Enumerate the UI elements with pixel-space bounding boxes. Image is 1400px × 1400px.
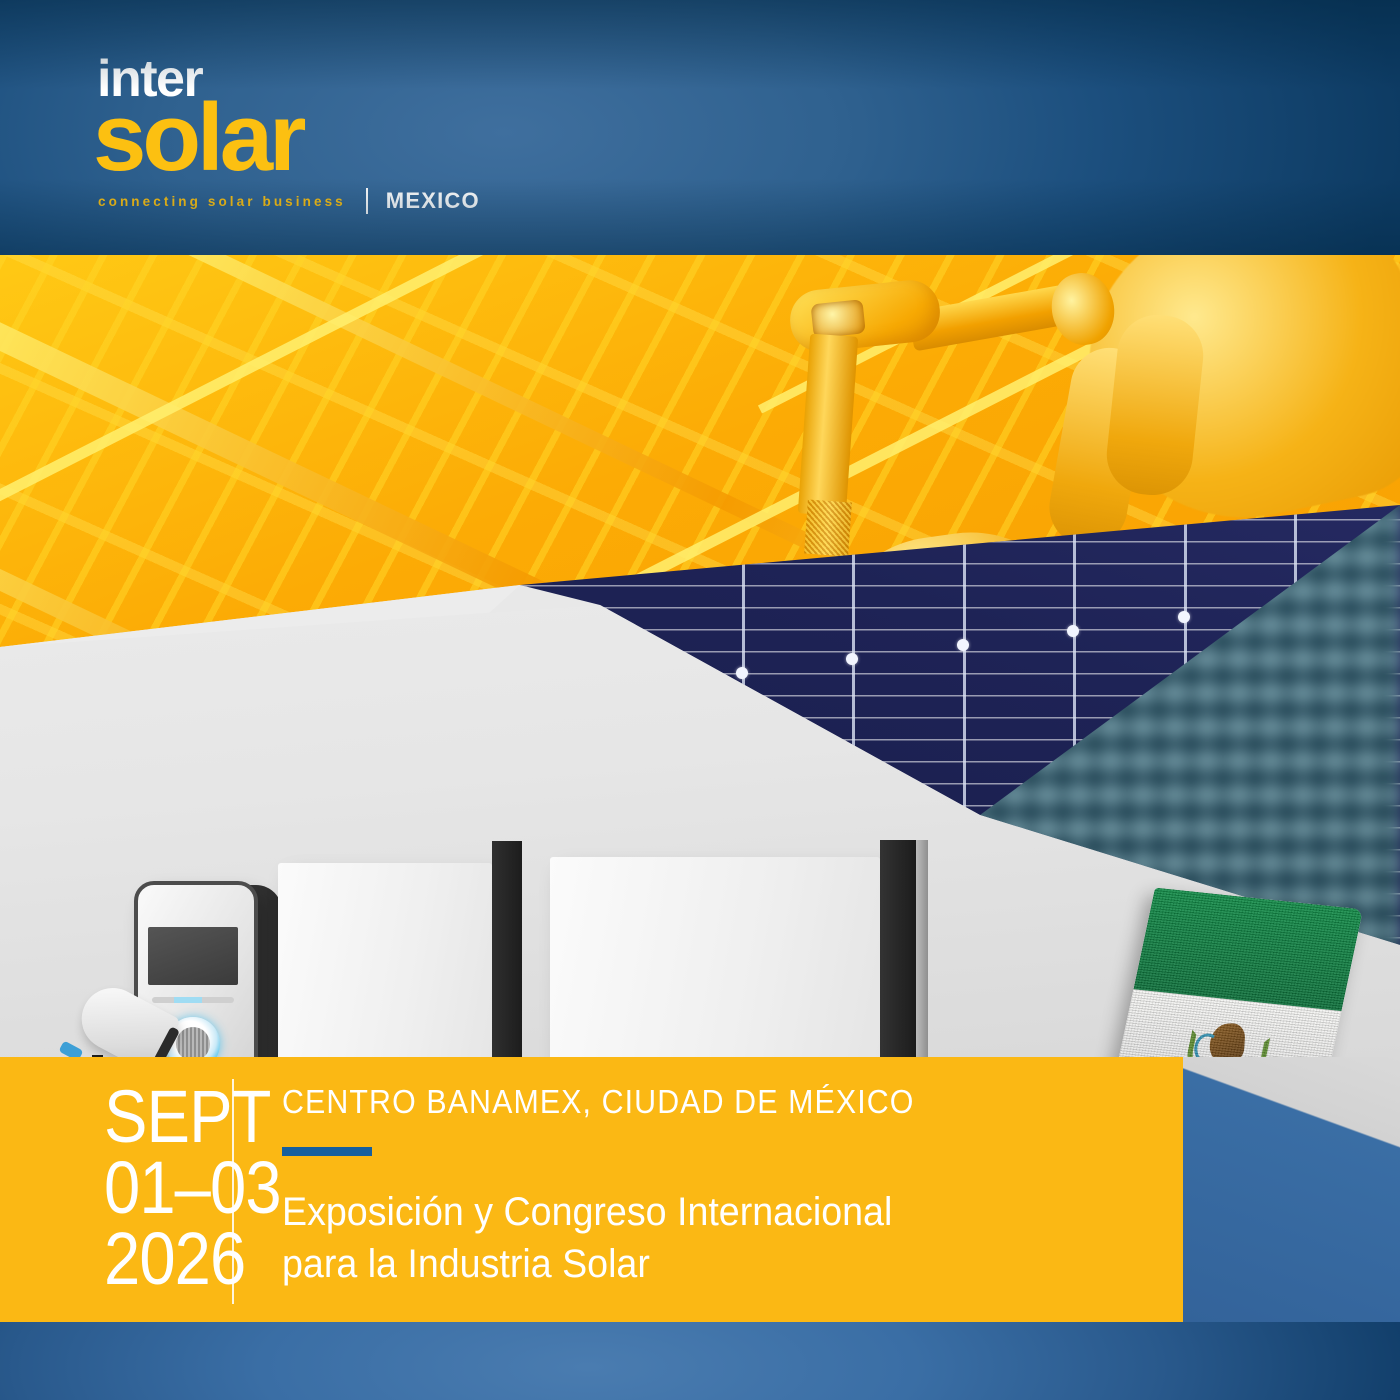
logo-solar-text: solar [93, 96, 513, 180]
poster-canvas: inter solar connecting solar business ME… [0, 0, 1400, 1400]
header-banner: inter solar connecting solar business ME… [0, 0, 1400, 255]
inverter-edge [916, 840, 928, 1058]
date-year: 2026 [104, 1223, 217, 1294]
footer-banner [0, 1322, 1400, 1400]
inverter-unit [278, 863, 492, 1058]
charger-screen [148, 927, 238, 985]
subtitle-line-2: para la Industria Solar [282, 1238, 928, 1290]
wrench-grip [804, 500, 852, 557]
event-dates: SEPT 01–03 2026 [0, 1057, 232, 1322]
date-days: 01–03 [104, 1152, 217, 1223]
inverter-side-panel [492, 841, 522, 1058]
solder-dot [846, 653, 858, 665]
logo-country-label: MEXICO [386, 188, 480, 214]
intersolar-logo[interactable]: inter solar connecting solar business ME… [93, 56, 513, 214]
logo-divider [366, 188, 368, 214]
accent-rule [282, 1147, 372, 1156]
event-details: CENTRO BANAMEX, CIUDAD DE MÉXICO Exposic… [234, 1057, 969, 1322]
venue-text: CENTRO BANAMEX, CIUDAD DE MÉXICO [282, 1083, 914, 1121]
wrench-shaft [798, 334, 858, 517]
logo-bottom-row: connecting solar business MEXICO [98, 188, 513, 214]
hero-collage [0, 255, 1400, 1058]
inverter-unit [550, 857, 880, 1058]
solder-dot [736, 667, 748, 679]
date-month: SEPT [104, 1081, 217, 1152]
charger-status-led [152, 997, 234, 1003]
solder-dot [1067, 625, 1079, 637]
event-info-row: SEPT 01–03 2026 CENTRO BANAMEX, CIUDAD D… [0, 1057, 969, 1322]
flag-coat-of-arms [1180, 1016, 1266, 1058]
inverter-side-panel [880, 840, 916, 1058]
event-info-band: SEPT 01–03 2026 CENTRO BANAMEX, CIUDAD D… [0, 1057, 1183, 1322]
logo-tagline: connecting solar business [98, 194, 346, 209]
band-right-corner [1183, 1057, 1400, 1322]
solder-dot [957, 639, 969, 651]
solder-dot [1178, 611, 1190, 623]
subtitle-line-1: Exposición y Congreso Internacional [282, 1186, 928, 1238]
